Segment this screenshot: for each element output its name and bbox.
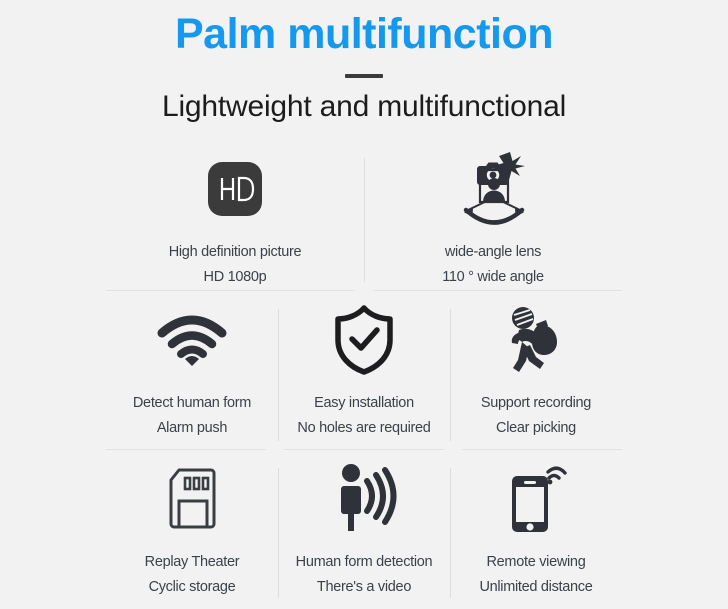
feature-grid: High definition picture HD 1080p bbox=[106, 140, 622, 606]
feature-caption: Replay Theater Cyclic storage bbox=[145, 552, 240, 598]
burglar-icon bbox=[503, 301, 569, 379]
feature-subtitle: There's a video bbox=[296, 577, 433, 598]
feature-subtitle: Unlimited distance bbox=[479, 577, 592, 598]
feature-caption: Remote viewing Unlimited distance bbox=[479, 552, 592, 598]
smartphone-wifi-icon bbox=[502, 460, 570, 538]
feature-caption: High definition picture HD 1080p bbox=[169, 242, 302, 288]
feature-subtitle: HD 1080p bbox=[169, 267, 302, 288]
feature-title: Human form detection bbox=[296, 552, 433, 573]
hd-badge-icon bbox=[203, 150, 267, 228]
header: Palm multifunction Lightweight and multi… bbox=[0, 0, 728, 126]
feature-subtitle: No holes are required bbox=[297, 418, 430, 439]
feature-caption: Human form detection There's a video bbox=[296, 552, 433, 598]
sd-card-icon bbox=[163, 460, 221, 538]
page-subtitle: Lightweight and multifunctional bbox=[0, 88, 728, 126]
feature-title: High definition picture bbox=[169, 242, 302, 263]
feature-infographic-page: Palm multifunction Lightweight and multi… bbox=[0, 0, 728, 609]
feature-title: Detect human form bbox=[133, 393, 251, 414]
feature-title: wide-angle lens bbox=[442, 242, 544, 263]
feature-cell-remote-viewing[interactable]: Remote viewing Unlimited distance bbox=[450, 450, 622, 606]
feature-caption: Support recording Clear picking bbox=[481, 393, 591, 439]
shield-check-icon bbox=[331, 301, 397, 379]
feature-subtitle: Alarm push bbox=[133, 418, 251, 439]
feature-row-1: High definition picture HD 1080p bbox=[106, 140, 622, 290]
person-motion-detect-icon bbox=[328, 460, 400, 538]
feature-cell-wide-angle[interactable]: wide-angle lens 110 ° wide angle bbox=[364, 140, 622, 290]
feature-title: Support recording bbox=[481, 393, 591, 414]
feature-cell-hd[interactable]: High definition picture HD 1080p bbox=[106, 140, 364, 290]
title-divider-dash bbox=[345, 74, 383, 78]
feature-title: Easy installation bbox=[297, 393, 430, 414]
feature-caption: wide-angle lens 110 ° wide angle bbox=[442, 242, 544, 288]
feature-caption: Detect human form Alarm push bbox=[133, 393, 251, 439]
feature-caption: Easy installation No holes are required bbox=[297, 393, 430, 439]
feature-subtitle: 110 ° wide angle bbox=[442, 267, 544, 288]
feature-subtitle: Cyclic storage bbox=[145, 577, 240, 598]
wide-angle-camera-icon bbox=[450, 150, 536, 228]
wifi-signal-icon bbox=[155, 301, 229, 379]
feature-cell-human-detection[interactable]: Human form detection There's a video bbox=[278, 450, 450, 606]
feature-title: Remote viewing bbox=[479, 552, 592, 573]
feature-cell-support-recording[interactable]: Support recording Clear picking bbox=[450, 291, 622, 449]
feature-subtitle: Clear picking bbox=[481, 418, 591, 439]
feature-cell-easy-install[interactable]: Easy installation No holes are required bbox=[278, 291, 450, 449]
page-title: Palm multifunction bbox=[0, 6, 728, 62]
feature-row-3: Replay Theater Cyclic storage bbox=[106, 450, 622, 606]
feature-row-2: Detect human form Alarm push Easy instal… bbox=[106, 291, 622, 449]
feature-cell-replay-theater[interactable]: Replay Theater Cyclic storage bbox=[106, 450, 278, 606]
feature-title: Replay Theater bbox=[145, 552, 240, 573]
feature-cell-detect-human[interactable]: Detect human form Alarm push bbox=[106, 291, 278, 449]
